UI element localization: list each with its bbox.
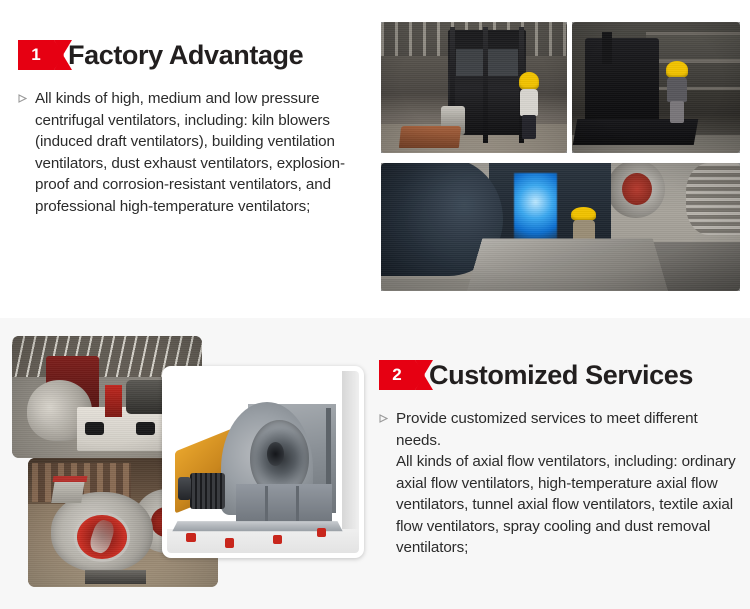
- blower-mounting-feet: [85, 570, 146, 584]
- press-column-mid: [483, 27, 488, 142]
- blower-outlet-flange: [51, 480, 85, 503]
- section-two-title: Customized Services: [429, 361, 693, 389]
- red-inlet-cone: [77, 515, 126, 559]
- worker-legs: [670, 101, 685, 123]
- section-factory-advantage: 1 Factory Advantage All kinds of high, m…: [0, 0, 750, 318]
- section-two-number-badge: 2: [379, 360, 415, 390]
- section-two-heading-row: 2 Customized Services: [379, 360, 739, 390]
- industrial-centrifugal-fan-product-photo: [162, 366, 364, 558]
- fan-casing-welding-photo: [381, 163, 740, 291]
- welding-arc-light: [514, 173, 557, 245]
- press-scene: [381, 22, 567, 153]
- wheelbarrow: [398, 126, 460, 148]
- drill-photo-inner: [572, 22, 740, 153]
- section-two-text-column: 2 Customized Services Provide customized…: [379, 360, 739, 559]
- worker-torso: [520, 89, 538, 117]
- triangle-bullet-icon: [18, 94, 27, 103]
- marketing-banner-page: 1 Factory Advantage All kinds of high, m…: [0, 0, 750, 609]
- assembled-fan-background: [607, 163, 664, 218]
- yellow-hard-hat-icon: [571, 207, 596, 221]
- section-one-number: 1: [31, 45, 40, 65]
- red-mounting-foot: [273, 535, 283, 544]
- red-mounting-foot: [225, 538, 235, 547]
- section-two-bullet-block: Provide customized services to meet diff…: [379, 408, 739, 559]
- sheet-metal-part-front: [464, 238, 671, 291]
- triangle-bullet-icon: [379, 414, 388, 423]
- red-support-post: [105, 385, 122, 417]
- impeller-hub: [267, 442, 284, 466]
- section-one-title: Factory Advantage: [68, 41, 303, 69]
- section-one-text-column: 1 Factory Advantage All kinds of high, m…: [18, 40, 368, 217]
- worker-at-drill: [666, 61, 688, 121]
- fan-outlet-box: [236, 484, 332, 524]
- background-wall: [342, 371, 359, 535]
- worker-torso: [667, 77, 686, 102]
- badge-arrow-icon: [415, 360, 425, 390]
- badge-arrow-icon: [54, 40, 64, 70]
- drill-scene: [572, 22, 740, 153]
- worker-legs: [522, 115, 536, 139]
- worker-at-press: [519, 72, 539, 138]
- section-one-number-badge: 1: [18, 40, 54, 70]
- red-mounting-foot: [186, 533, 196, 542]
- product-scene: [167, 371, 359, 553]
- steel-coils-background: [686, 163, 740, 235]
- product-floor: [167, 529, 359, 553]
- section-one-body-text: All kinds of high, medium and low pressu…: [35, 88, 368, 217]
- machine-bed: [573, 119, 699, 145]
- section-two-number: 2: [392, 365, 401, 385]
- section-two-body-text: Provide customized services to meet diff…: [396, 408, 739, 559]
- product-photo-inner: [167, 371, 359, 553]
- yellow-hard-hat-icon: [666, 61, 688, 78]
- yellow-hard-hat-icon: [519, 72, 539, 90]
- press-photo-inner: [381, 22, 567, 153]
- drill-press-machine: [585, 38, 659, 132]
- tool-shelf: [646, 32, 740, 90]
- electric-motor: [190, 473, 225, 509]
- factory-press-shop-photo: [381, 22, 567, 153]
- welding-photo-inner: [381, 163, 740, 291]
- welding-scene: [381, 163, 740, 291]
- section-one-bullet-block: All kinds of high, medium and low pressu…: [18, 88, 368, 217]
- red-mounting-foot: [317, 528, 327, 537]
- section-one-heading-row: 1 Factory Advantage: [18, 40, 368, 70]
- factory-drill-machining-photo: [572, 22, 740, 153]
